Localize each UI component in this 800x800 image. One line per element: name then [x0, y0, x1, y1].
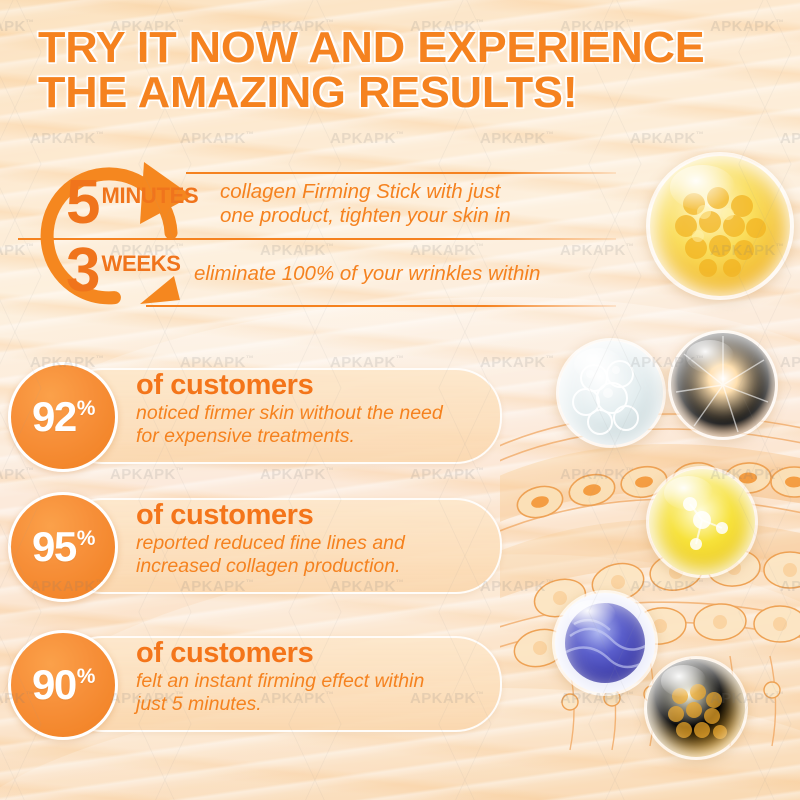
watermark-label: APKAPK™ — [630, 130, 704, 147]
stat-percent-value: 95 — [32, 526, 76, 568]
watermark-label: APKAPK™ — [110, 466, 184, 483]
time-copy-weeks: eliminate 100% of your wrinkles within — [194, 262, 540, 286]
divider-line-bottom — [146, 305, 616, 307]
time-copy-minutes-line1: collagen Firming Stick with just — [220, 180, 511, 204]
stat-percent-symbol: % — [77, 398, 94, 419]
watermark-label: APKAPK™ — [710, 690, 784, 707]
headline-line-1: TRY IT NOW AND EXPERIENCE — [38, 26, 752, 71]
stat-percent-value: 90 — [32, 664, 76, 706]
watermark-label: APKAPK™ — [710, 242, 784, 259]
stat-title: of customers — [136, 370, 516, 401]
stat-text-block: of customers noticed firmer skin without… — [136, 370, 516, 447]
divider-line-top — [186, 172, 616, 174]
stat-text-block: of customers reported reduced fine lines… — [136, 500, 516, 577]
honeycomb-sphere-top-icon — [646, 152, 794, 300]
yellow-serum-sphere-icon — [646, 466, 758, 578]
bubble-cluster-sphere-icon — [556, 338, 666, 448]
honeycomb-sphere-bottom-icon — [644, 656, 748, 760]
watermark-label: APKAPK™ — [260, 466, 334, 483]
stat-percent-symbol: % — [77, 666, 94, 687]
time-claim-block: 5 MINUTES collagen Firming Stick with ju… — [18, 150, 618, 325]
stat-description: reported reduced fine lines and increase… — [136, 532, 516, 577]
time-unit-weeks: WEEKS — [101, 251, 180, 277]
stat-title: of customers — [136, 638, 516, 669]
ad-creative-canvas: TRY IT NOW AND EXPERIENCE THE AMAZING RE… — [0, 0, 800, 800]
watermark-label: APKAPK™ — [630, 354, 704, 371]
watermark-label: APKAPK™ — [780, 354, 800, 371]
watermark-label: APKAPK™ — [410, 466, 484, 483]
stat-row: 92 % of customers noticed firmer skin wi… — [18, 368, 498, 460]
status-badge: 95 % — [8, 492, 118, 602]
status-badge: 90 % — [8, 630, 118, 740]
headline-line-2: THE AMAZING RESULTS! — [38, 71, 752, 116]
stat-row: 95 % of customers reported reduced fine … — [18, 498, 498, 590]
stat-row: 90 % of customers felt an instant firmin… — [18, 636, 498, 728]
watermark-label: APKAPK™ — [560, 690, 634, 707]
blue-serum-sphere-icon — [552, 590, 658, 696]
watermark-label: APKAPK™ — [710, 466, 784, 483]
stat-title: of customers — [136, 500, 516, 531]
stat-percent-symbol: % — [77, 528, 94, 549]
status-badge: 92 % — [8, 362, 118, 472]
stat-description: felt an instant firming effect within ju… — [136, 670, 516, 715]
time-copy-minutes-line2: one product, tighten your skin in — [220, 204, 511, 228]
watermark-label: APKAPK™ — [480, 130, 554, 147]
time-number-weeks: 3 — [66, 242, 99, 301]
time-row-weeks: 3 WEEKS — [66, 242, 181, 301]
time-copy-weeks-line1: eliminate 100% of your wrinkles within — [194, 262, 540, 286]
watermark-label: APKAPK™ — [560, 466, 634, 483]
watermark-label: APKAPK™ — [0, 18, 34, 35]
orange-radial-sphere-icon — [668, 330, 778, 440]
watermark-label: APKAPK™ — [630, 578, 704, 595]
watermark-label: APKAPK™ — [0, 466, 34, 483]
time-row-minutes: 5 MINUTES — [66, 174, 198, 233]
time-copy-minutes: collagen Firming Stick with just one pro… — [220, 180, 511, 228]
stat-percent-value: 92 — [32, 396, 76, 438]
time-unit-minutes: MINUTES — [101, 183, 198, 209]
watermark-label: APKAPK™ — [780, 130, 800, 147]
watermark-label: APKAPK™ — [30, 130, 104, 147]
stat-description: noticed firmer skin without the need for… — [136, 402, 516, 447]
page-headline: TRY IT NOW AND EXPERIENCE THE AMAZING RE… — [38, 26, 752, 116]
stat-text-block: of customers felt an instant firming eff… — [136, 638, 516, 715]
watermark-label: APKAPK™ — [330, 130, 404, 147]
skin-cell-cross-section-illustration — [500, 330, 800, 790]
watermark-label: APKAPK™ — [780, 578, 800, 595]
watermark-label: APKAPK™ — [180, 130, 254, 147]
time-number-minutes: 5 — [66, 174, 99, 233]
